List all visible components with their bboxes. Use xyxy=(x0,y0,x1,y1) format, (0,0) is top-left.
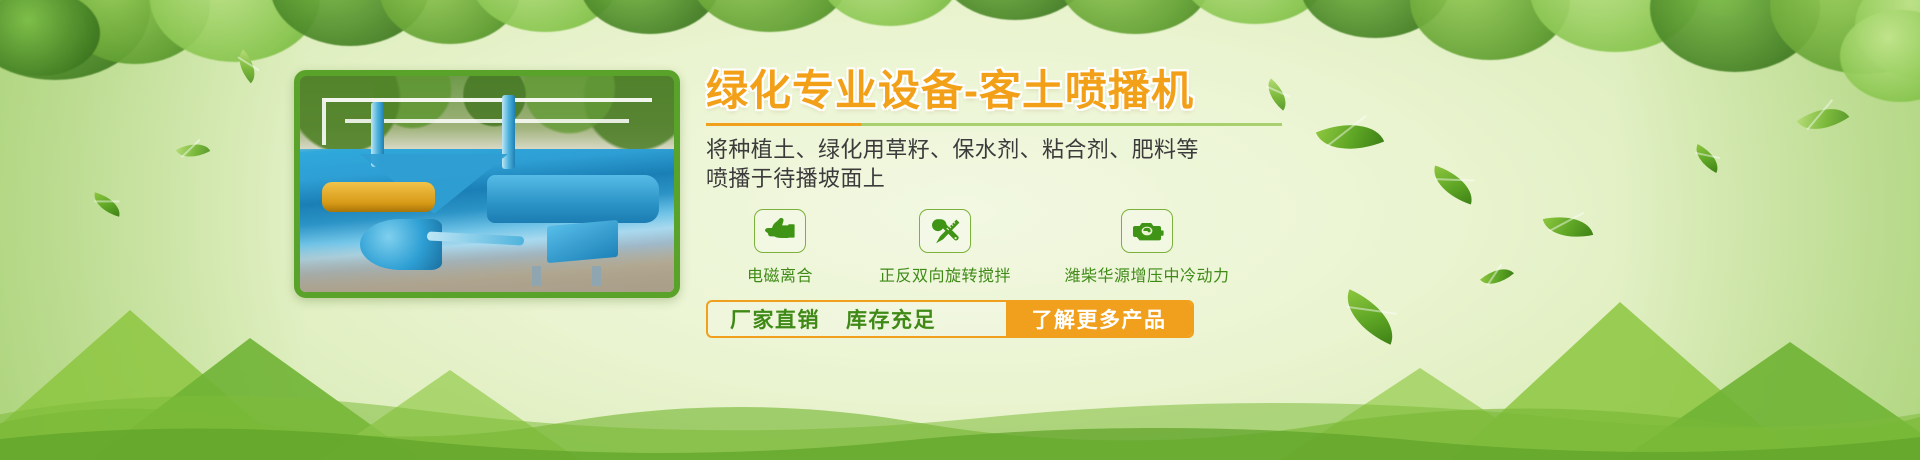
feature-label: 潍柴华源增压中冷动力 xyxy=(1036,262,1258,286)
promo-banner: 绿化专业设备-客土喷播机 将种植土、绿化用草籽、保水剂、粘合剂、肥料等 喷播于待… xyxy=(0,0,1920,460)
cta-slogan-2: 库存充足 xyxy=(846,304,936,334)
grass-decoration xyxy=(0,365,1920,460)
cta-slogan-1: 厂家直销 xyxy=(730,304,820,334)
feature-list: 电磁离合 正反双向旋转搅拌 xyxy=(706,209,1346,286)
feature-label: 正反双向旋转搅拌 xyxy=(854,262,1036,286)
product-photo-image xyxy=(300,76,674,292)
leaf-decoration xyxy=(1543,210,1593,245)
feature-item-clutch: 电磁离合 xyxy=(706,209,854,286)
product-photo xyxy=(294,70,680,298)
banner-title: 绿化专业设备-客土喷播机 xyxy=(706,66,1346,116)
leaf-decoration xyxy=(1690,144,1724,173)
wrench-screwdriver-icon xyxy=(919,209,971,253)
banner-content: 绿化专业设备-客土喷播机 将种植土、绿化用草籽、保水剂、粘合剂、肥料等 喷播于待… xyxy=(706,66,1346,338)
leaf-decoration xyxy=(90,192,124,217)
cta-slogans: 厂家直销 库存充足 xyxy=(708,302,1006,336)
subtitle-line-2: 喷播于待播坡面上 xyxy=(706,164,1346,193)
leaf-decoration xyxy=(176,136,210,165)
feature-label: 电磁离合 xyxy=(706,262,854,286)
subtitle-line-1: 将种植土、绿化用草籽、保水剂、粘合剂、肥料等 xyxy=(706,135,1346,164)
thumbs-up-icon xyxy=(754,209,806,253)
engine-icon xyxy=(1121,209,1173,253)
feature-item-mixing: 正反双向旋转搅拌 xyxy=(854,209,1036,286)
leaf-decoration xyxy=(1427,166,1479,205)
learn-more-button[interactable]: 了解更多产品 xyxy=(1006,302,1192,336)
banner-subtitle: 将种植土、绿化用草籽、保水剂、粘合剂、肥料等 喷播于待播坡面上 xyxy=(706,135,1346,194)
feature-item-engine: 潍柴华源增压中冷动力 xyxy=(1036,209,1258,286)
cta-bar: 厂家直销 库存充足 了解更多产品 xyxy=(706,300,1194,338)
title-divider xyxy=(706,123,1282,126)
